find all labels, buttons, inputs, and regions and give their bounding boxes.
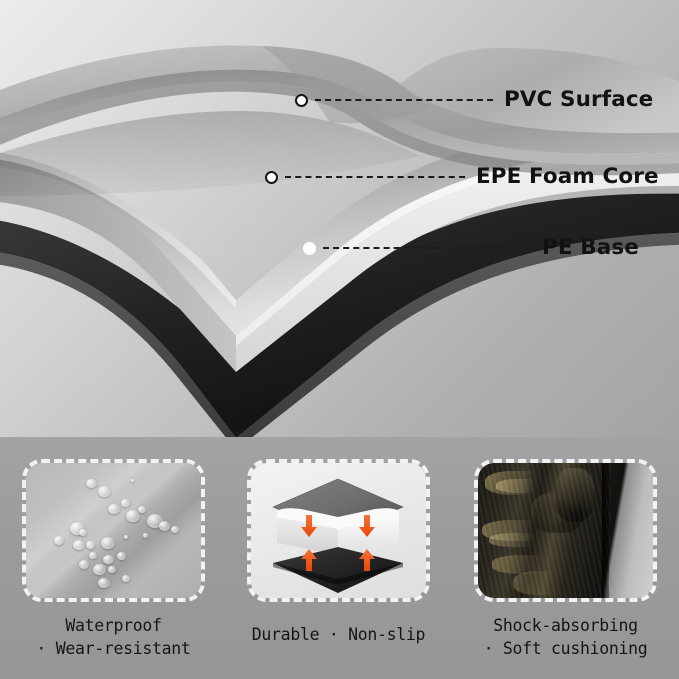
feature-strip: Waterproof · Wear-resistant bbox=[0, 437, 679, 679]
callout-epe-foam-core: EPE Foam Core bbox=[265, 164, 659, 190]
mat-construction-infographic: PVC Surface EPE Foam Core PE Base bbox=[0, 0, 679, 679]
feature-caption-durable: Durable · Non-slip bbox=[247, 624, 430, 647]
feature-caption-shock: Shock-absorbing · Soft cushioning bbox=[474, 615, 657, 661]
exploded-three-layer-stack-image bbox=[251, 463, 426, 598]
feature-image-frame bbox=[22, 459, 205, 602]
feature-image-frame bbox=[247, 459, 430, 602]
leader-dash-line bbox=[315, 99, 493, 101]
leader-dash-line bbox=[285, 176, 465, 178]
callout-label-epe: EPE Foam Core bbox=[476, 164, 659, 190]
feature-image-frame bbox=[474, 459, 657, 602]
callout-label-pvc: PVC Surface bbox=[504, 87, 653, 113]
callout-label-pe: PE Base bbox=[542, 235, 639, 261]
water-droplets-on-fabric-image bbox=[26, 463, 201, 598]
black-pe-sheet-texture-image bbox=[478, 463, 653, 598]
hollow-dot-marker-icon bbox=[265, 171, 278, 184]
feature-caption-waterproof: Waterproof · Wear-resistant bbox=[22, 615, 205, 661]
feature-shock-absorbing: Shock-absorbing · Soft cushioning bbox=[474, 459, 657, 661]
callout-pvc-surface: PVC Surface bbox=[295, 87, 653, 113]
feature-waterproof: Waterproof · Wear-resistant bbox=[22, 459, 205, 661]
leader-dash-line bbox=[323, 247, 531, 249]
hollow-dot-marker-icon bbox=[295, 94, 308, 107]
callout-pe-base: PE Base bbox=[303, 235, 639, 261]
layer-stack-illustration bbox=[0, 0, 679, 440]
feature-durable-nonslip: Durable · Non-slip bbox=[247, 459, 430, 647]
solid-dot-marker-icon bbox=[303, 242, 316, 255]
